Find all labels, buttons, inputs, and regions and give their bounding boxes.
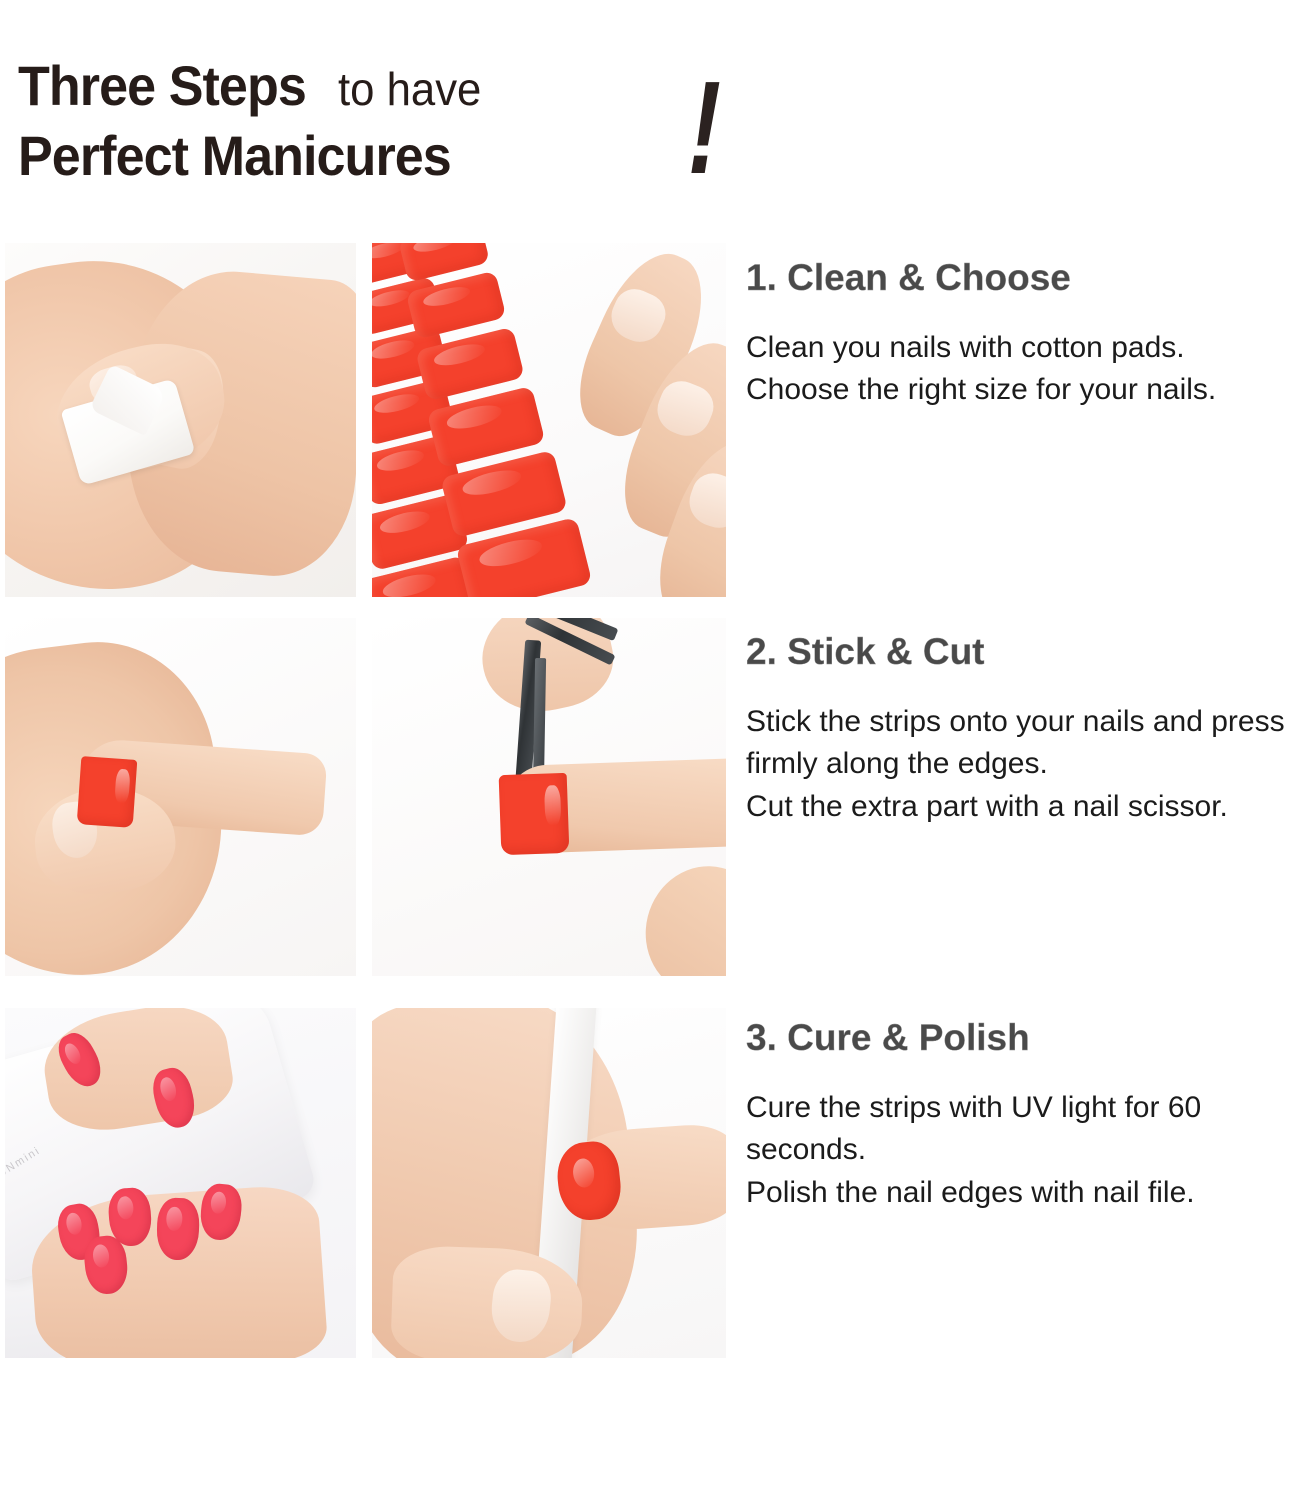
step-1-heading: 1. Clean & Choose bbox=[746, 258, 1300, 299]
title-line-1: Three Stepsto have bbox=[18, 58, 778, 114]
photo-stick-strip-on-nail bbox=[5, 618, 356, 976]
applied-red-strip bbox=[77, 756, 138, 828]
step-3-line-1: Cure the strips with UV light for 60 sec… bbox=[746, 1087, 1300, 1172]
step-2-heading: 2. Stick & Cut bbox=[746, 632, 1300, 673]
infographic-page: Three Stepsto have Perfect Manicures ! bbox=[0, 0, 1300, 1500]
step-2-line-2: Cut the extra part with a nail scissor. bbox=[746, 786, 1300, 829]
step-1-line-2: Choose the right size for your nails. bbox=[746, 369, 1300, 412]
step-3-body: Cure the strips with UV light for 60 sec… bbox=[746, 1087, 1300, 1215]
photo-nail-strip-sheet-sizing bbox=[372, 243, 726, 597]
step-1-body: Clean you nails with cotton pads. Choose… bbox=[746, 327, 1300, 412]
title-strong-2: Perfect Manicures bbox=[18, 128, 451, 184]
step-3-line-2: Polish the nail edges with nail file. bbox=[746, 1172, 1300, 1215]
step-2-block: 2. Stick & Cut Stick the strips onto you… bbox=[746, 632, 1300, 828]
photo-cut-extra-with-scissor bbox=[372, 618, 726, 976]
step-1-line-1: Clean you nails with cotton pads. bbox=[746, 327, 1300, 370]
title-line-2: Perfect Manicures bbox=[18, 128, 778, 184]
red-strip-being-trimmed bbox=[499, 773, 570, 855]
photo-polish-edges-with-file bbox=[372, 1008, 726, 1358]
page-title: Three Stepsto have Perfect Manicures bbox=[18, 58, 778, 208]
title-light-1: to have bbox=[338, 66, 481, 112]
step-1-block: 1. Clean & Choose Clean you nails with c… bbox=[746, 258, 1300, 412]
photo-cure-under-uv-lamp: SUNmini bbox=[5, 1008, 356, 1358]
step-2-line-1: Stick the strips onto your nails and pre… bbox=[746, 701, 1300, 786]
uv-lamp-logo: SUNmini bbox=[5, 1144, 43, 1185]
title-strong-1: Three Steps bbox=[18, 58, 306, 114]
step-3-block: 3. Cure & Polish Cure the strips with UV… bbox=[746, 1018, 1300, 1214]
photo-clean-nail-with-cotton-pad bbox=[5, 243, 356, 597]
step-2-body: Stick the strips onto your nails and pre… bbox=[746, 701, 1300, 829]
step-3-heading: 3. Cure & Polish bbox=[746, 1018, 1300, 1059]
